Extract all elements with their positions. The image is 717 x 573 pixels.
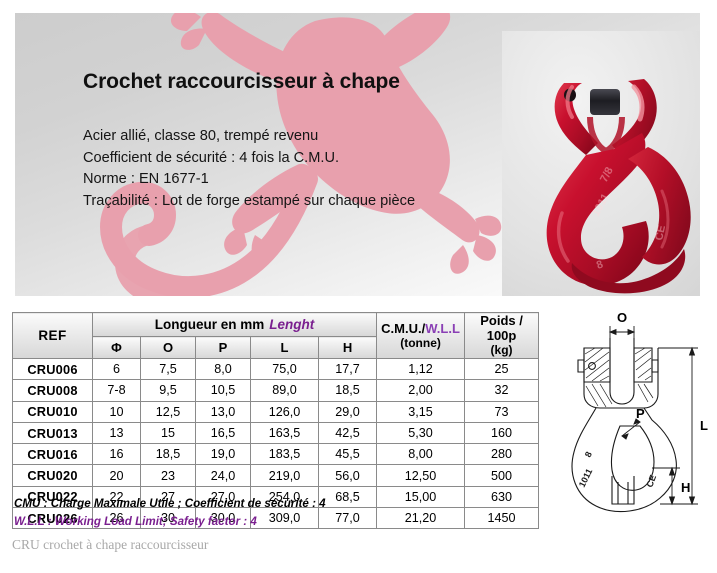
cell-o: 9,5: [141, 380, 196, 401]
table-row: CRU00667,58,075,017,71,1225: [13, 359, 539, 380]
header-dim-l: L: [251, 337, 319, 359]
description-line-2: Coefficient de sécurité : 4 fois la C.M.…: [83, 148, 415, 170]
cell-cmu: 3,15: [377, 401, 465, 422]
cell-phi: 13: [93, 422, 141, 443]
cell-h: 18,5: [319, 380, 377, 401]
cell-phi: 6: [93, 359, 141, 380]
product-photo: 7/8 1011 8 CE: [502, 31, 700, 296]
cell-ref: CRU020: [13, 465, 93, 486]
cell-o: 23: [141, 465, 196, 486]
cell-poids: 630: [465, 486, 539, 507]
cell-p: 10,5: [196, 380, 251, 401]
cell-h: 45,5: [319, 444, 377, 465]
cell-p: 24,0: [196, 465, 251, 486]
header-poids-label: Poids / 100p: [465, 313, 538, 343]
engraving-ce: CE: [644, 474, 658, 489]
cell-l: 89,0: [251, 380, 319, 401]
cell-h: 56,0: [319, 465, 377, 486]
table-row: CRU0101012,513,0126,029,03,1573: [13, 401, 539, 422]
cell-poids: 500: [465, 465, 539, 486]
table-row: CRU013131516,5163,542,55,30160: [13, 422, 539, 443]
table-row: CRU0087-89,510,589,018,52,0032: [13, 380, 539, 401]
cell-phi: 16: [93, 444, 141, 465]
header-poids: Poids / 100p (kg): [465, 313, 539, 359]
cell-p: 16,5: [196, 422, 251, 443]
cell-p: 13,0: [196, 401, 251, 422]
cell-p: 8,0: [196, 359, 251, 380]
product-description: Acier allié, classe 80, trempé revenu Co…: [83, 126, 415, 212]
cell-p: 19,0: [196, 444, 251, 465]
cell-h: 68,5: [319, 486, 377, 507]
header-banner: 7/8 1011 8 CE Crochet raccourcisseur à c…: [15, 13, 700, 296]
cell-phi: 20: [93, 465, 141, 486]
cell-cmu: 8,00: [377, 444, 465, 465]
note-cmu: CMU : Charge Maximale Utile ; Coefficien…: [14, 497, 326, 510]
cell-o: 7,5: [141, 359, 196, 380]
page-caption: CRU crochet à chape raccourcisseur: [12, 537, 208, 553]
header-dim-o: O: [141, 337, 196, 359]
header-cmu-wll: W.L.L: [425, 321, 460, 336]
cell-cmu: 21,20: [377, 508, 465, 529]
technical-drawing: 8 1011 CE: [548, 308, 714, 520]
cell-cmu: 5,30: [377, 422, 465, 443]
cell-l: 75,0: [251, 359, 319, 380]
cell-cmu: 15,00: [377, 486, 465, 507]
header-length-group: Longueur en mmLenght: [93, 313, 377, 337]
page-title: Crochet raccourcisseur à chape: [83, 70, 400, 94]
product-datasheet-page: 7/8 1011 8 CE Crochet raccourcisseur à c…: [0, 0, 717, 573]
header-length-en: Lenght: [269, 317, 314, 332]
note-wll: W.L.L : Working Load Limit; Safety facto…: [14, 515, 257, 528]
cell-l: 309,0: [251, 508, 319, 529]
cell-poids: 25: [465, 359, 539, 380]
header-ref: REF: [13, 313, 93, 359]
cell-ref: CRU013: [13, 422, 93, 443]
cell-l: 126,0: [251, 401, 319, 422]
cell-h: 17,7: [319, 359, 377, 380]
cell-o: 15: [141, 422, 196, 443]
header-cmu-fr: C.M.U./: [381, 321, 425, 336]
cell-poids: 73: [465, 401, 539, 422]
header-length-fr: Longueur en mm: [155, 317, 265, 332]
cell-poids: 280: [465, 444, 539, 465]
cell-h: 29,0: [319, 401, 377, 422]
header-poids-unit: (kg): [465, 343, 538, 358]
cell-ref: CRU006: [13, 359, 93, 380]
cell-h: 77,0: [319, 508, 377, 529]
cell-l: 163,5: [251, 422, 319, 443]
cell-h: 42,5: [319, 422, 377, 443]
cell-ref: CRU008: [13, 380, 93, 401]
cell-phi: 7-8: [93, 380, 141, 401]
description-line-1: Acier allié, classe 80, trempé revenu: [83, 126, 415, 148]
cell-o: 12,5: [141, 401, 196, 422]
cell-cmu: 2,00: [377, 380, 465, 401]
cell-l: 219,0: [251, 465, 319, 486]
table-row: CRU0161618,519,0183,545,58,00280: [13, 444, 539, 465]
header-dim-p: P: [196, 337, 251, 359]
cell-poids: 1450: [465, 508, 539, 529]
dim-label-l: L: [700, 418, 708, 433]
cell-phi: 10: [93, 401, 141, 422]
header-cmu-unit: (tonne): [377, 336, 464, 351]
clevis-grab-hook-photo: 7/8 1011 8 CE: [502, 31, 700, 296]
description-line-4: Traçabilité : Lot de forge estampé sur c…: [83, 191, 415, 213]
table-row: CRU020202324,0219,056,012,50500: [13, 465, 539, 486]
cell-o: 18,5: [141, 444, 196, 465]
header-cmu: C.M.U./W.L.L (tonne): [377, 313, 465, 359]
cell-poids: 160: [465, 422, 539, 443]
dim-label-o: O: [617, 310, 627, 325]
header-dim-h: H: [319, 337, 377, 359]
description-line-3: Norme : EN 1677-1: [83, 169, 415, 191]
cell-ref: CRU016: [13, 444, 93, 465]
cell-ref: CRU010: [13, 401, 93, 422]
cell-poids: 32: [465, 380, 539, 401]
cell-l: 183,5: [251, 444, 319, 465]
cell-cmu: 12,50: [377, 465, 465, 486]
table-header-top-row: REF Longueur en mmLenght C.M.U./W.L.L (t…: [13, 313, 539, 337]
dim-label-h: H: [681, 480, 690, 495]
engraving-8: 8: [583, 450, 594, 459]
header-dim-phi: Φ: [93, 337, 141, 359]
engraving-1011: 1011: [577, 467, 595, 489]
hook-dimension-diagram: 8 1011 CE: [548, 308, 714, 520]
cell-cmu: 1,12: [377, 359, 465, 380]
dim-label-p: P: [636, 406, 645, 421]
